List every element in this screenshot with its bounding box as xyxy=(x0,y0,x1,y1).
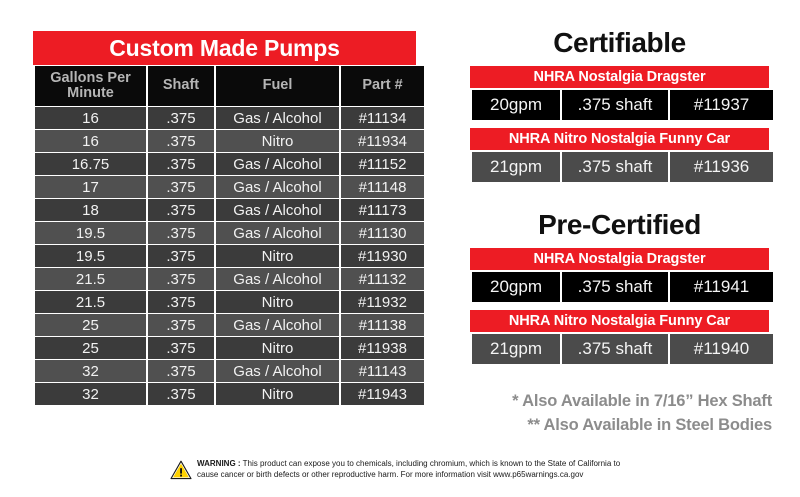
cell-shaft: .375 xyxy=(148,383,214,405)
precertified-heading: Pre-Certified xyxy=(470,210,769,239)
cell-shaft: .375 shaft xyxy=(562,334,668,364)
cell-part: #11937 xyxy=(670,90,773,120)
certifiable-section: Certifiable NHRA Nostalgia Dragster20gpm… xyxy=(470,28,769,190)
table-row: 17.375Gas / Alcohol#11148 xyxy=(35,176,424,198)
prop65-warning: WARNING : This product can expose you to… xyxy=(170,459,620,485)
spec-block: NHRA Nitro Nostalgia Funny Car21gpm.375 … xyxy=(470,128,769,182)
cell-fuel: Gas / Alcohol xyxy=(216,314,339,336)
cell-gpm: 32 xyxy=(35,360,146,382)
table-row: 25.375Gas / Alcohol#11138 xyxy=(35,314,424,336)
precertified-section: Pre-Certified NHRA Nostalgia Dragster20g… xyxy=(470,210,769,372)
cell-gpm: 21gpm xyxy=(472,152,560,182)
cell-gpm: 25 xyxy=(35,337,146,359)
table-row: 16.375Nitro#11934 xyxy=(35,130,424,152)
cell-gpm: 19.5 xyxy=(35,245,146,267)
cell-part: #11138 xyxy=(341,314,424,336)
spec-block-grid: 20gpm.375 shaft#11937 xyxy=(470,90,775,120)
cell-part: #11936 xyxy=(670,152,773,182)
cell-part: #11932 xyxy=(341,291,424,313)
spec-block-title: NHRA Nitro Nostalgia Funny Car xyxy=(470,128,769,150)
cell-shaft: .375 shaft xyxy=(562,272,668,302)
cell-shaft: .375 xyxy=(148,291,214,313)
cell-shaft: .375 xyxy=(148,130,214,152)
spec-block-title: NHRA Nostalgia Dragster xyxy=(470,248,769,270)
spec-block-title: NHRA Nostalgia Dragster xyxy=(470,66,769,88)
prop65-line2: cause cancer or birth defects or other r… xyxy=(197,470,583,479)
cell-fuel: Gas / Alcohol xyxy=(216,360,339,382)
table-row: 18.375Gas / Alcohol#11173 xyxy=(35,199,424,221)
spec-block-title: NHRA Nitro Nostalgia Funny Car xyxy=(470,310,769,332)
cell-gpm: 20gpm xyxy=(472,272,560,302)
column-header-shaft: Shaft xyxy=(148,66,214,106)
custom-made-pumps-table: Custom Made Pumps Gallons Per Minute Sha… xyxy=(33,31,416,406)
cell-part: #11940 xyxy=(670,334,773,364)
table-header-row: Gallons Per Minute Shaft Fuel Part # xyxy=(35,66,424,106)
cell-fuel: Gas / Alcohol xyxy=(216,268,339,290)
cell-fuel: Gas / Alcohol xyxy=(216,176,339,198)
table-row: 19.5.375Nitro#11930 xyxy=(35,245,424,267)
cell-gpm: 16.75 xyxy=(35,153,146,175)
cell-gpm: 16 xyxy=(35,107,146,129)
cell-fuel: Nitro xyxy=(216,337,339,359)
cell-part: #11130 xyxy=(341,222,424,244)
cell-gpm: 21gpm xyxy=(472,334,560,364)
cell-shaft: .375 xyxy=(148,245,214,267)
table-row: 20gpm.375 shaft#11937 xyxy=(472,90,773,120)
footnote-hex-shaft: * Also Available in 7/16” Hex Shaft xyxy=(452,390,772,414)
cell-part: #11934 xyxy=(341,130,424,152)
table-row: 21.5.375Gas / Alcohol#11132 xyxy=(35,268,424,290)
cell-part: #11930 xyxy=(341,245,424,267)
cell-gpm: 25 xyxy=(35,314,146,336)
cell-gpm: 32 xyxy=(35,383,146,405)
table-row: 16.375Gas / Alcohol#11134 xyxy=(35,107,424,129)
certifiable-heading: Certifiable xyxy=(470,28,769,57)
main-table-title: Custom Made Pumps xyxy=(33,31,416,65)
table-row: 16.75.375Gas / Alcohol#11152 xyxy=(35,153,424,175)
cell-part: #11941 xyxy=(670,272,773,302)
cell-shaft: .375 xyxy=(148,314,214,336)
cell-fuel: Gas / Alcohol xyxy=(216,107,339,129)
spec-block: NHRA Nostalgia Dragster20gpm.375 shaft#1… xyxy=(470,248,769,302)
table-row: 21.5.375Nitro#11932 xyxy=(35,291,424,313)
table-row: 21gpm.375 shaft#11936 xyxy=(472,152,773,182)
cell-fuel: Gas / Alcohol xyxy=(216,222,339,244)
cell-fuel: Gas / Alcohol xyxy=(216,199,339,221)
cell-shaft: .375 xyxy=(148,222,214,244)
column-header-part: Part # xyxy=(341,66,424,106)
cell-fuel: Nitro xyxy=(216,291,339,313)
table-row: 32.375Nitro#11943 xyxy=(35,383,424,405)
table-row: 21gpm.375 shaft#11940 xyxy=(472,334,773,364)
cell-gpm: 17 xyxy=(35,176,146,198)
cell-part: #11152 xyxy=(341,153,424,175)
cell-part: #11173 xyxy=(341,199,424,221)
prop65-line1: This product can expose you to chemicals… xyxy=(241,459,621,468)
cell-part: #11132 xyxy=(341,268,424,290)
cell-fuel: Nitro xyxy=(216,245,339,267)
spec-block-grid: 21gpm.375 shaft#11936 xyxy=(470,152,775,182)
cell-fuel: Nitro xyxy=(216,130,339,152)
cell-shaft: .375 xyxy=(148,153,214,175)
cell-gpm: 21.5 xyxy=(35,291,146,313)
cell-shaft: .375 shaft xyxy=(562,152,668,182)
spec-block: NHRA Nostalgia Dragster20gpm.375 shaft#1… xyxy=(470,66,769,120)
cell-gpm: 19.5 xyxy=(35,222,146,244)
cell-shaft: .375 xyxy=(148,360,214,382)
cell-shaft: .375 shaft xyxy=(562,90,668,120)
cell-fuel: Gas / Alcohol xyxy=(216,153,339,175)
cell-part: #11148 xyxy=(341,176,424,198)
pumps-grid: Gallons Per Minute Shaft Fuel Part # 16.… xyxy=(33,65,426,406)
cell-gpm: 18 xyxy=(35,199,146,221)
cell-part: #11938 xyxy=(341,337,424,359)
cell-part: #11143 xyxy=(341,360,424,382)
prop65-text: WARNING : This product can expose you to… xyxy=(197,459,620,481)
cell-gpm: 16 xyxy=(35,130,146,152)
cell-shaft: .375 xyxy=(148,107,214,129)
footnote-steel-bodies: ** Also Available in Steel Bodies xyxy=(452,414,772,438)
footnotes: * Also Available in 7/16” Hex Shaft ** A… xyxy=(452,390,772,438)
cell-shaft: .375 xyxy=(148,268,214,290)
cell-fuel: Nitro xyxy=(216,383,339,405)
cell-shaft: .375 xyxy=(148,337,214,359)
cell-gpm: 21.5 xyxy=(35,268,146,290)
table-row: 32.375Gas / Alcohol#11143 xyxy=(35,360,424,382)
cell-shaft: .375 xyxy=(148,176,214,198)
prop65-warning-label: WARNING : xyxy=(197,459,241,468)
cell-part: #11943 xyxy=(341,383,424,405)
warning-triangle-icon xyxy=(170,460,192,485)
table-row: 25.375Nitro#11938 xyxy=(35,337,424,359)
table-row: 19.5.375Gas / Alcohol#11130 xyxy=(35,222,424,244)
spec-block: NHRA Nitro Nostalgia Funny Car21gpm.375 … xyxy=(470,310,769,364)
spec-block-grid: 20gpm.375 shaft#11941 xyxy=(470,272,775,302)
cell-shaft: .375 xyxy=(148,199,214,221)
column-header-fuel: Fuel xyxy=(216,66,339,106)
table-row: 20gpm.375 shaft#11941 xyxy=(472,272,773,302)
column-header-gallons-per-minute: Gallons Per Minute xyxy=(35,66,146,106)
cell-gpm: 20gpm xyxy=(472,90,560,120)
spec-block-grid: 21gpm.375 shaft#11940 xyxy=(470,334,775,364)
cell-part: #11134 xyxy=(341,107,424,129)
